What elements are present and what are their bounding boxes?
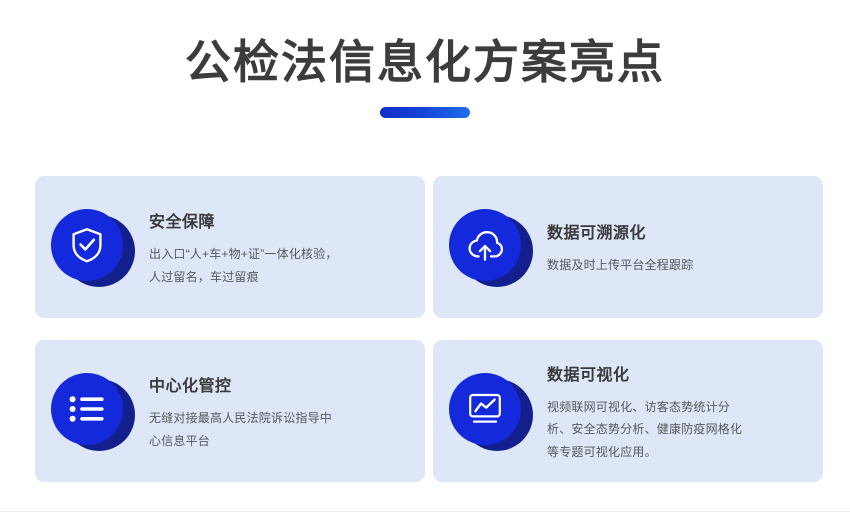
card-text: 数据可溯源化 数据及时上传平台全程跟踪 [547, 217, 805, 276]
cloud-upload-icon [465, 228, 505, 262]
card-title: 数据可视化 [547, 361, 805, 385]
card-title: 安全保障 [149, 208, 407, 232]
feature-card-security[interactable]: 安全保障 出入口“人+车+物+证”一体化核验，人过留名，车过留痕 [35, 176, 425, 318]
icon-badge [51, 207, 135, 287]
icon-badge [449, 371, 533, 451]
card-title: 中心化管控 [149, 372, 407, 396]
icon-circle [51, 373, 123, 445]
icon-circle [51, 209, 123, 281]
card-description: 无缝对接最高人民法院诉讼指导中心信息平台 [149, 407, 344, 451]
card-title: 数据可溯源化 [547, 219, 805, 243]
feature-card-grid: 安全保障 出入口“人+车+物+证”一体化核验，人过留名，车过留痕 [35, 176, 823, 482]
feature-card-centralized-control[interactable]: 中心化管控 无缝对接最高人民法院诉讼指导中心信息平台 [35, 340, 425, 482]
card-description: 数据及时上传平台全程跟踪 [547, 254, 777, 276]
feature-card-data-traceability[interactable]: 数据可溯源化 数据及时上传平台全程跟踪 [433, 176, 823, 318]
bullet-list-icon [69, 395, 105, 423]
icon-badge [51, 371, 135, 451]
feature-card-data-visualization[interactable]: 数据可视化 视频联网可视化、访客态势统计分析、安全态势分析、健康防疫网格化等专题… [433, 340, 823, 482]
page-title: 公检法信息化方案亮点 [0, 36, 850, 89]
promo-page: 公检法信息化方案亮点 安全保障 出入口“人+车+物+证”一体化核 [0, 0, 850, 516]
card-text: 数据可视化 视频联网可视化、访客态势统计分析、安全态势分析、健康防疫网格化等专题… [547, 359, 805, 463]
icon-circle [449, 373, 521, 445]
bottom-divider [0, 511, 850, 512]
card-description: 出入口“人+车+物+证”一体化核验，人过留名，车过留痕 [149, 243, 344, 287]
title-underline-accent [380, 107, 470, 118]
shield-check-icon [69, 226, 105, 264]
chart-monitor-icon [467, 392, 503, 426]
card-text: 安全保障 出入口“人+车+物+证”一体化核验，人过留名，车过留痕 [149, 206, 407, 287]
page-header: 公检法信息化方案亮点 [0, 0, 850, 118]
card-text: 中心化管控 无缝对接最高人民法院诉讼指导中心信息平台 [149, 370, 407, 451]
icon-badge [449, 207, 533, 287]
card-description: 视频联网可视化、访客态势统计分析、安全态势分析、健康防疫网格化等专题可视化应用。 [547, 396, 747, 463]
icon-circle [449, 209, 521, 281]
